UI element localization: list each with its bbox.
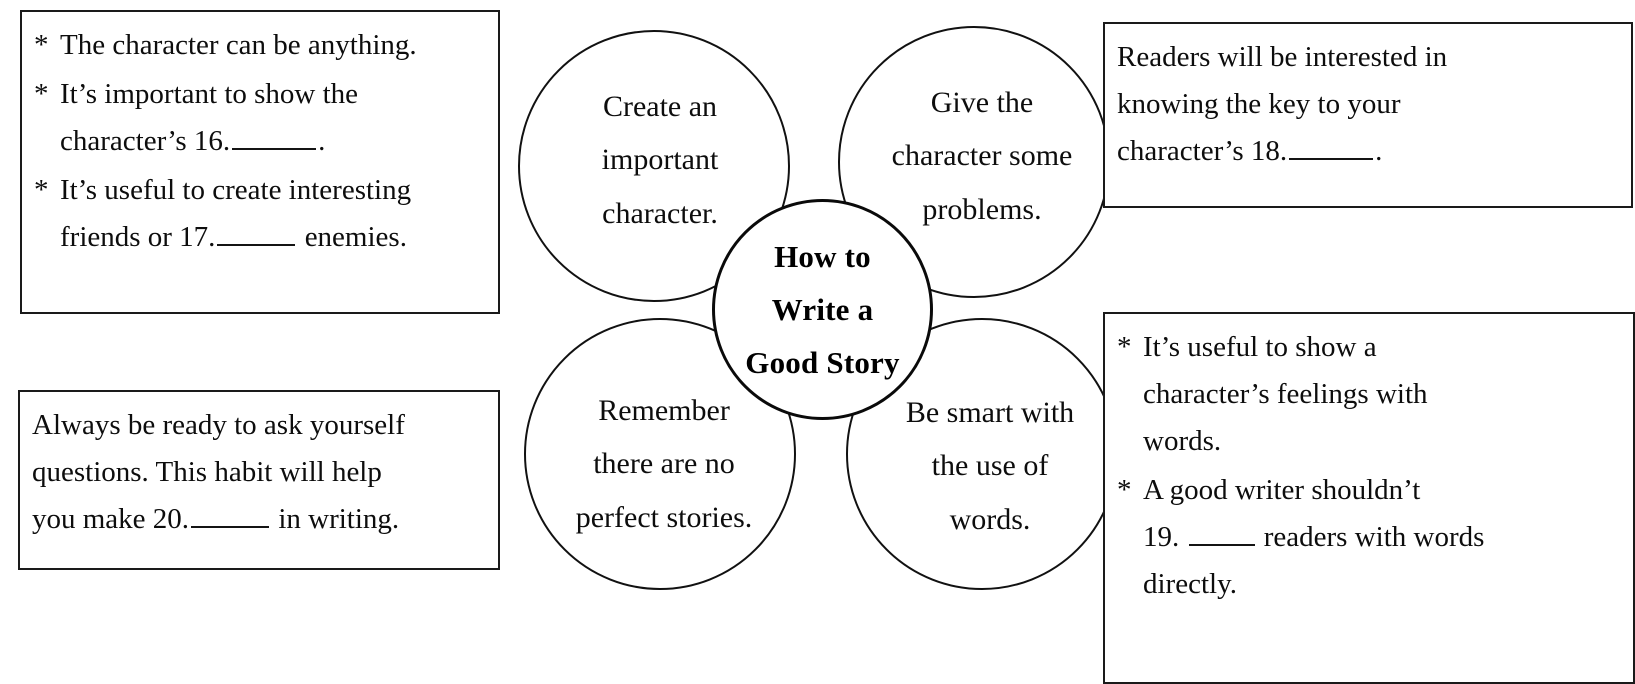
bullet-text-line: friends or 17. enemies. xyxy=(60,214,482,261)
bullet-star-icon: * xyxy=(34,71,49,118)
note-box-bottom-left: Always be ready to ask yourself question… xyxy=(18,390,500,570)
note-text-part: in writing. xyxy=(278,503,399,535)
bullet-text-line: words. xyxy=(1143,418,1617,465)
note-body-bottom-left: Always be ready to ask yourself question… xyxy=(20,392,498,551)
petal-line: Remember xyxy=(598,394,730,427)
petal-text-bottom-right: Be smart with the use of words. xyxy=(896,386,1084,546)
center-title: How to Write a Good Story xyxy=(745,230,899,390)
note-text-part: you make 20. xyxy=(32,503,189,535)
petal-line: important xyxy=(602,143,719,176)
petal-text-top-right: Give the character some problems. xyxy=(882,76,1083,236)
note-line: knowing the key to your xyxy=(1117,81,1615,128)
bullet-text-line: directly. xyxy=(1143,561,1617,608)
bullet-star-icon: * xyxy=(1117,467,1132,514)
petal-line: perfect stories. xyxy=(576,501,753,534)
center-title-line: How to xyxy=(774,239,871,274)
bullet-item: * It’s useful to show a character’s feel… xyxy=(1117,324,1617,465)
petal-line: Give the xyxy=(931,86,1033,119)
note-line: Readers will be interested in xyxy=(1117,34,1615,81)
bullet-text-line: 19. readers with words xyxy=(1143,514,1617,561)
center-circle-topic: How to Write a Good Story xyxy=(712,199,933,420)
bullet-star-icon: * xyxy=(34,167,49,214)
bullet-text-part: friends or 17. xyxy=(60,221,215,253)
bullet-text-line: It’s important to show the xyxy=(60,71,482,118)
bullet-text-part: character’s 16. xyxy=(60,125,230,157)
answer-blank-17[interactable] xyxy=(217,244,295,246)
answer-blank-16[interactable] xyxy=(232,148,316,150)
bullet-text-part: 19. xyxy=(1143,521,1179,553)
petal-line: Be smart with xyxy=(906,396,1074,429)
center-title-line: Write a xyxy=(772,292,874,327)
petal-text-top-left: Create an important character. xyxy=(592,80,729,240)
bullet-text-line: It’s useful to show a xyxy=(1143,324,1617,371)
answer-blank-19[interactable] xyxy=(1189,544,1255,546)
note-body-bottom-right: * It’s useful to show a character’s feel… xyxy=(1105,314,1633,618)
bullet-star-icon: * xyxy=(1117,324,1132,371)
bullet-item: * It’s useful to create interesting frie… xyxy=(34,167,482,261)
note-line: you make 20. in writing. xyxy=(32,496,482,543)
bullet-text-line: character’s feelings with xyxy=(1143,371,1617,418)
bullet-item: * A good writer shouldn’t 19. readers wi… xyxy=(1117,467,1617,608)
note-body-top-left: * The character can be anything. * It’s … xyxy=(22,12,498,271)
bullet-text-line: It’s useful to create interesting xyxy=(60,167,482,214)
bullet-text-part: . xyxy=(318,125,325,157)
petal-text-bottom-left: Remember there are no perfect stories. xyxy=(566,384,763,544)
bullet-item: * The character can be anything. xyxy=(34,22,482,69)
note-body-top-right: Readers will be interested in knowing th… xyxy=(1105,24,1631,183)
note-line: questions. This habit will help xyxy=(32,449,482,496)
petal-line: character some xyxy=(892,139,1073,172)
bullet-text: The character can be anything. xyxy=(60,29,417,61)
petal-line: the use of xyxy=(932,449,1049,482)
answer-blank-20[interactable] xyxy=(191,526,269,528)
petal-line: words. xyxy=(950,503,1031,536)
worksheet-page: Create an important character. Give the … xyxy=(0,0,1635,667)
petal-line: Create an xyxy=(603,90,717,123)
note-box-bottom-right: * It’s useful to show a character’s feel… xyxy=(1103,312,1635,684)
note-box-top-right: Readers will be interested in knowing th… xyxy=(1103,22,1633,208)
bullet-text-part: readers with words xyxy=(1264,521,1485,553)
petal-line: there are no xyxy=(593,447,735,480)
note-text-part: . xyxy=(1375,135,1382,167)
bullet-item: * It’s important to show the character’s… xyxy=(34,71,482,165)
note-text-part: character’s 18. xyxy=(1117,135,1287,167)
petal-line: character. xyxy=(602,197,718,230)
bullet-text-line: A good writer shouldn’t xyxy=(1143,467,1617,514)
note-line: character’s 18.. xyxy=(1117,128,1615,175)
bullet-text-line: character’s 16.. xyxy=(60,118,482,165)
bullet-star-icon: * xyxy=(34,22,49,69)
center-title-line: Good Story xyxy=(745,345,899,380)
note-box-top-left: * The character can be anything. * It’s … xyxy=(20,10,500,314)
petal-line: problems. xyxy=(922,193,1041,226)
bullet-text-part: enemies. xyxy=(305,221,407,253)
note-line: Always be ready to ask yourself xyxy=(32,402,482,449)
answer-blank-18[interactable] xyxy=(1289,158,1373,160)
